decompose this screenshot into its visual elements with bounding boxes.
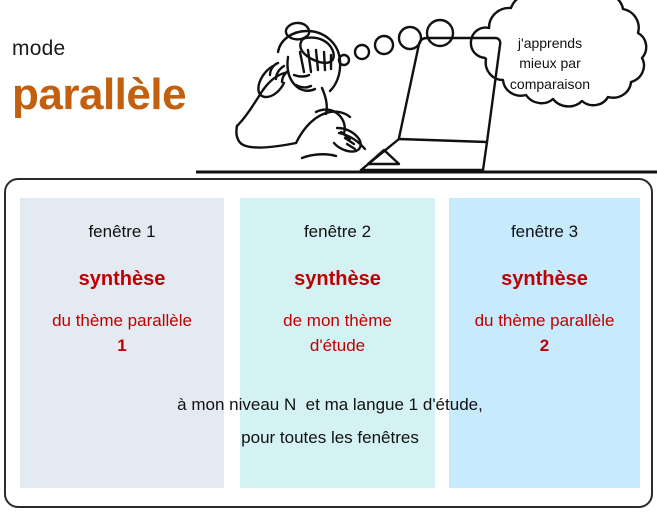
illustration-person-at-laptop [196, 0, 657, 180]
thought-dot-4 [399, 27, 421, 49]
thought-dot-2 [355, 45, 369, 59]
thought-cloud [471, 0, 646, 106]
synthese-heading-3: synthèse [449, 267, 640, 291]
window-label-2: fenêtre 2 [240, 222, 435, 242]
laptop-screen [399, 38, 500, 142]
theme-text-3: du thème parallèle 2 [449, 309, 640, 358]
thought-dot-5 [427, 20, 453, 46]
eye-line [294, 75, 309, 77]
theme-line-3b: 2 [540, 336, 549, 355]
parallel-mode-box: fenêtre 1 synthèse du thème parallèle 1 … [4, 178, 653, 508]
synthese-heading-2: synthèse [240, 267, 435, 291]
theme-line-1b: 1 [117, 336, 126, 355]
theme-text-1: du thème parallèle 1 [20, 309, 224, 358]
upper-arm-left [237, 72, 288, 126]
window-label-3: fenêtre 3 [449, 222, 640, 242]
theme-line-2b: d'étude [310, 336, 365, 355]
window-label-1: fenêtre 1 [20, 222, 224, 242]
theme-text-2: de mon thème d'étude [240, 309, 435, 358]
mode-label: mode [12, 38, 65, 59]
thought-dot-3 [375, 36, 393, 54]
theme-line-1a: du thème parallèle [52, 311, 192, 330]
page-title: parallèle [12, 73, 186, 117]
window-panel-1[interactable]: fenêtre 1 synthèse du thème parallèle 1 [20, 198, 224, 488]
theme-line-2a: de mon thème [283, 311, 392, 330]
mouth-line [296, 85, 311, 87]
windows-row: fenêtre 1 synthèse du thème parallèle 1 … [20, 198, 640, 488]
paper-on-desk [302, 154, 336, 158]
theme-line-3a: du thème parallèle [475, 311, 615, 330]
header-zone: mode parallèle [0, 0, 657, 178]
synthese-heading-1: synthèse [20, 267, 224, 291]
fingers-right [341, 132, 355, 149]
window-panel-2[interactable]: fenêtre 2 synthèse de mon thème d'étude [240, 198, 435, 488]
forearm-left [236, 126, 296, 147]
illustration-svg [196, 0, 657, 180]
window-panel-3[interactable]: fenêtre 3 synthèse du thème parallèle 2 [449, 198, 640, 488]
